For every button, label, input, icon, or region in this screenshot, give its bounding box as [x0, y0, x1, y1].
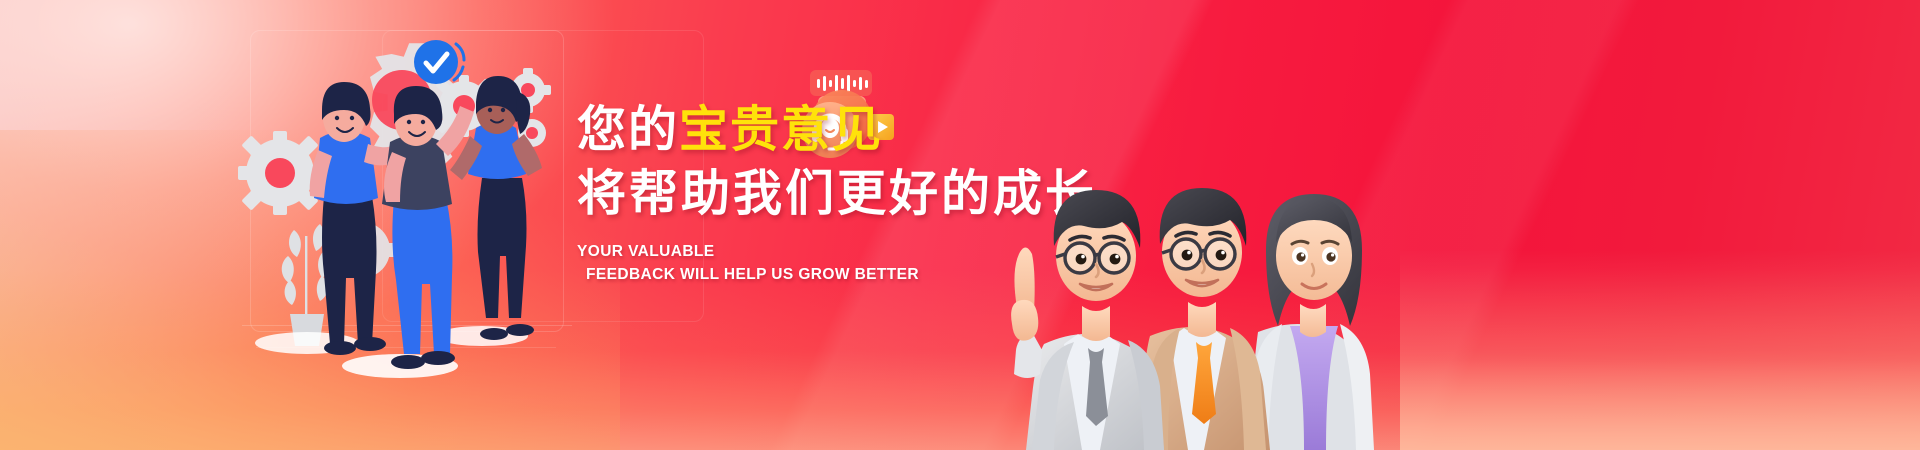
headline-highlight-label: 宝贵意见: [679, 103, 883, 157]
headline-highlight-text: 宝贵意见: [679, 98, 883, 162]
character-man-grey: [1011, 190, 1164, 450]
character-woman: [1248, 194, 1374, 450]
subtitle-line-1: YOUR VALUABLE: [577, 243, 715, 260]
check-badge-icon: [414, 40, 464, 84]
background-right-bottom-fade: [1400, 250, 1920, 450]
business-team-3d-characters: [1000, 118, 1420, 450]
teamwork-gears-illustration: [232, 18, 582, 388]
headline-underline-bar: [679, 156, 885, 163]
feedback-banner: 您的宝贵意见 将帮助我们更好的成长 YOUR VALUABLE FEEDBACK…: [0, 0, 1920, 450]
headline-plain-text: 您的: [577, 103, 679, 157]
person-center: [382, 86, 474, 369]
